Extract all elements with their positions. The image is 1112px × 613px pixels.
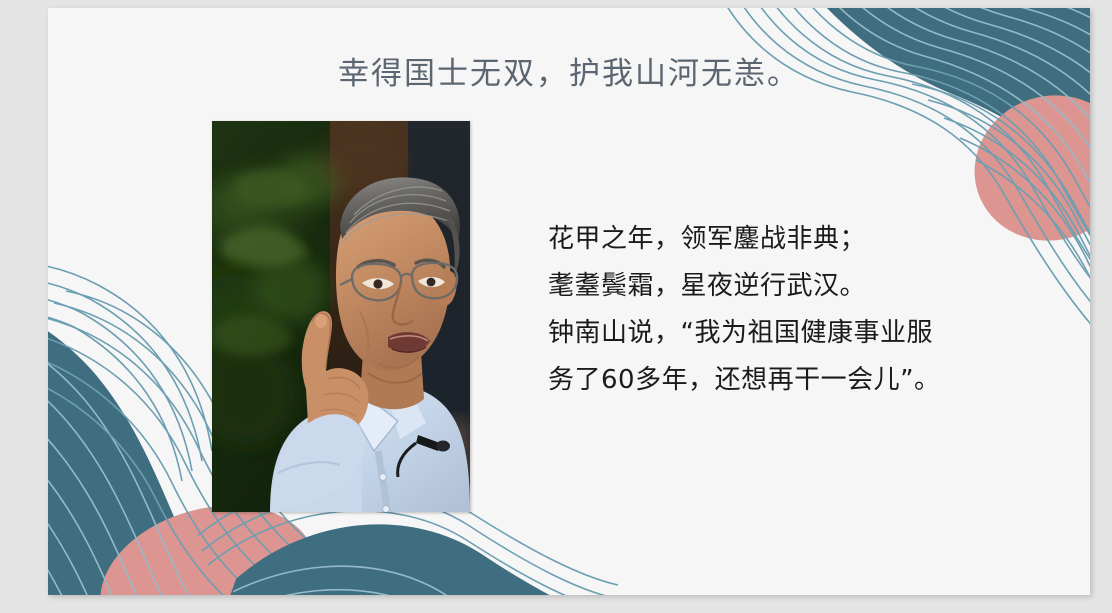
slide-title: 幸得国士无双，护我山河无恙。 (48, 48, 1090, 93)
body-line: 耄耋鬓霜，星夜逆行武汉。 (548, 263, 978, 310)
teal-blob-shape-br (198, 524, 618, 595)
body-line: 务了60多年，还想再干一会儿”。 (548, 357, 978, 404)
slide-canvas: 幸得国士无双，护我山河无恙。 (0, 0, 1112, 613)
body-line: 花甲之年，领军鏖战非典； (548, 216, 978, 263)
body-line: 钟南山说，“我为祖国健康事业服 (548, 310, 978, 357)
slide-panel: 幸得国士无双，护我山河无恙。 (48, 8, 1090, 595)
portrait-photo (212, 121, 470, 512)
body-text-block: 花甲之年，领军鏖战非典； 耄耋鬓霜，星夜逆行武汉。 钟南山说，“我为祖国健康事业… (548, 216, 978, 404)
